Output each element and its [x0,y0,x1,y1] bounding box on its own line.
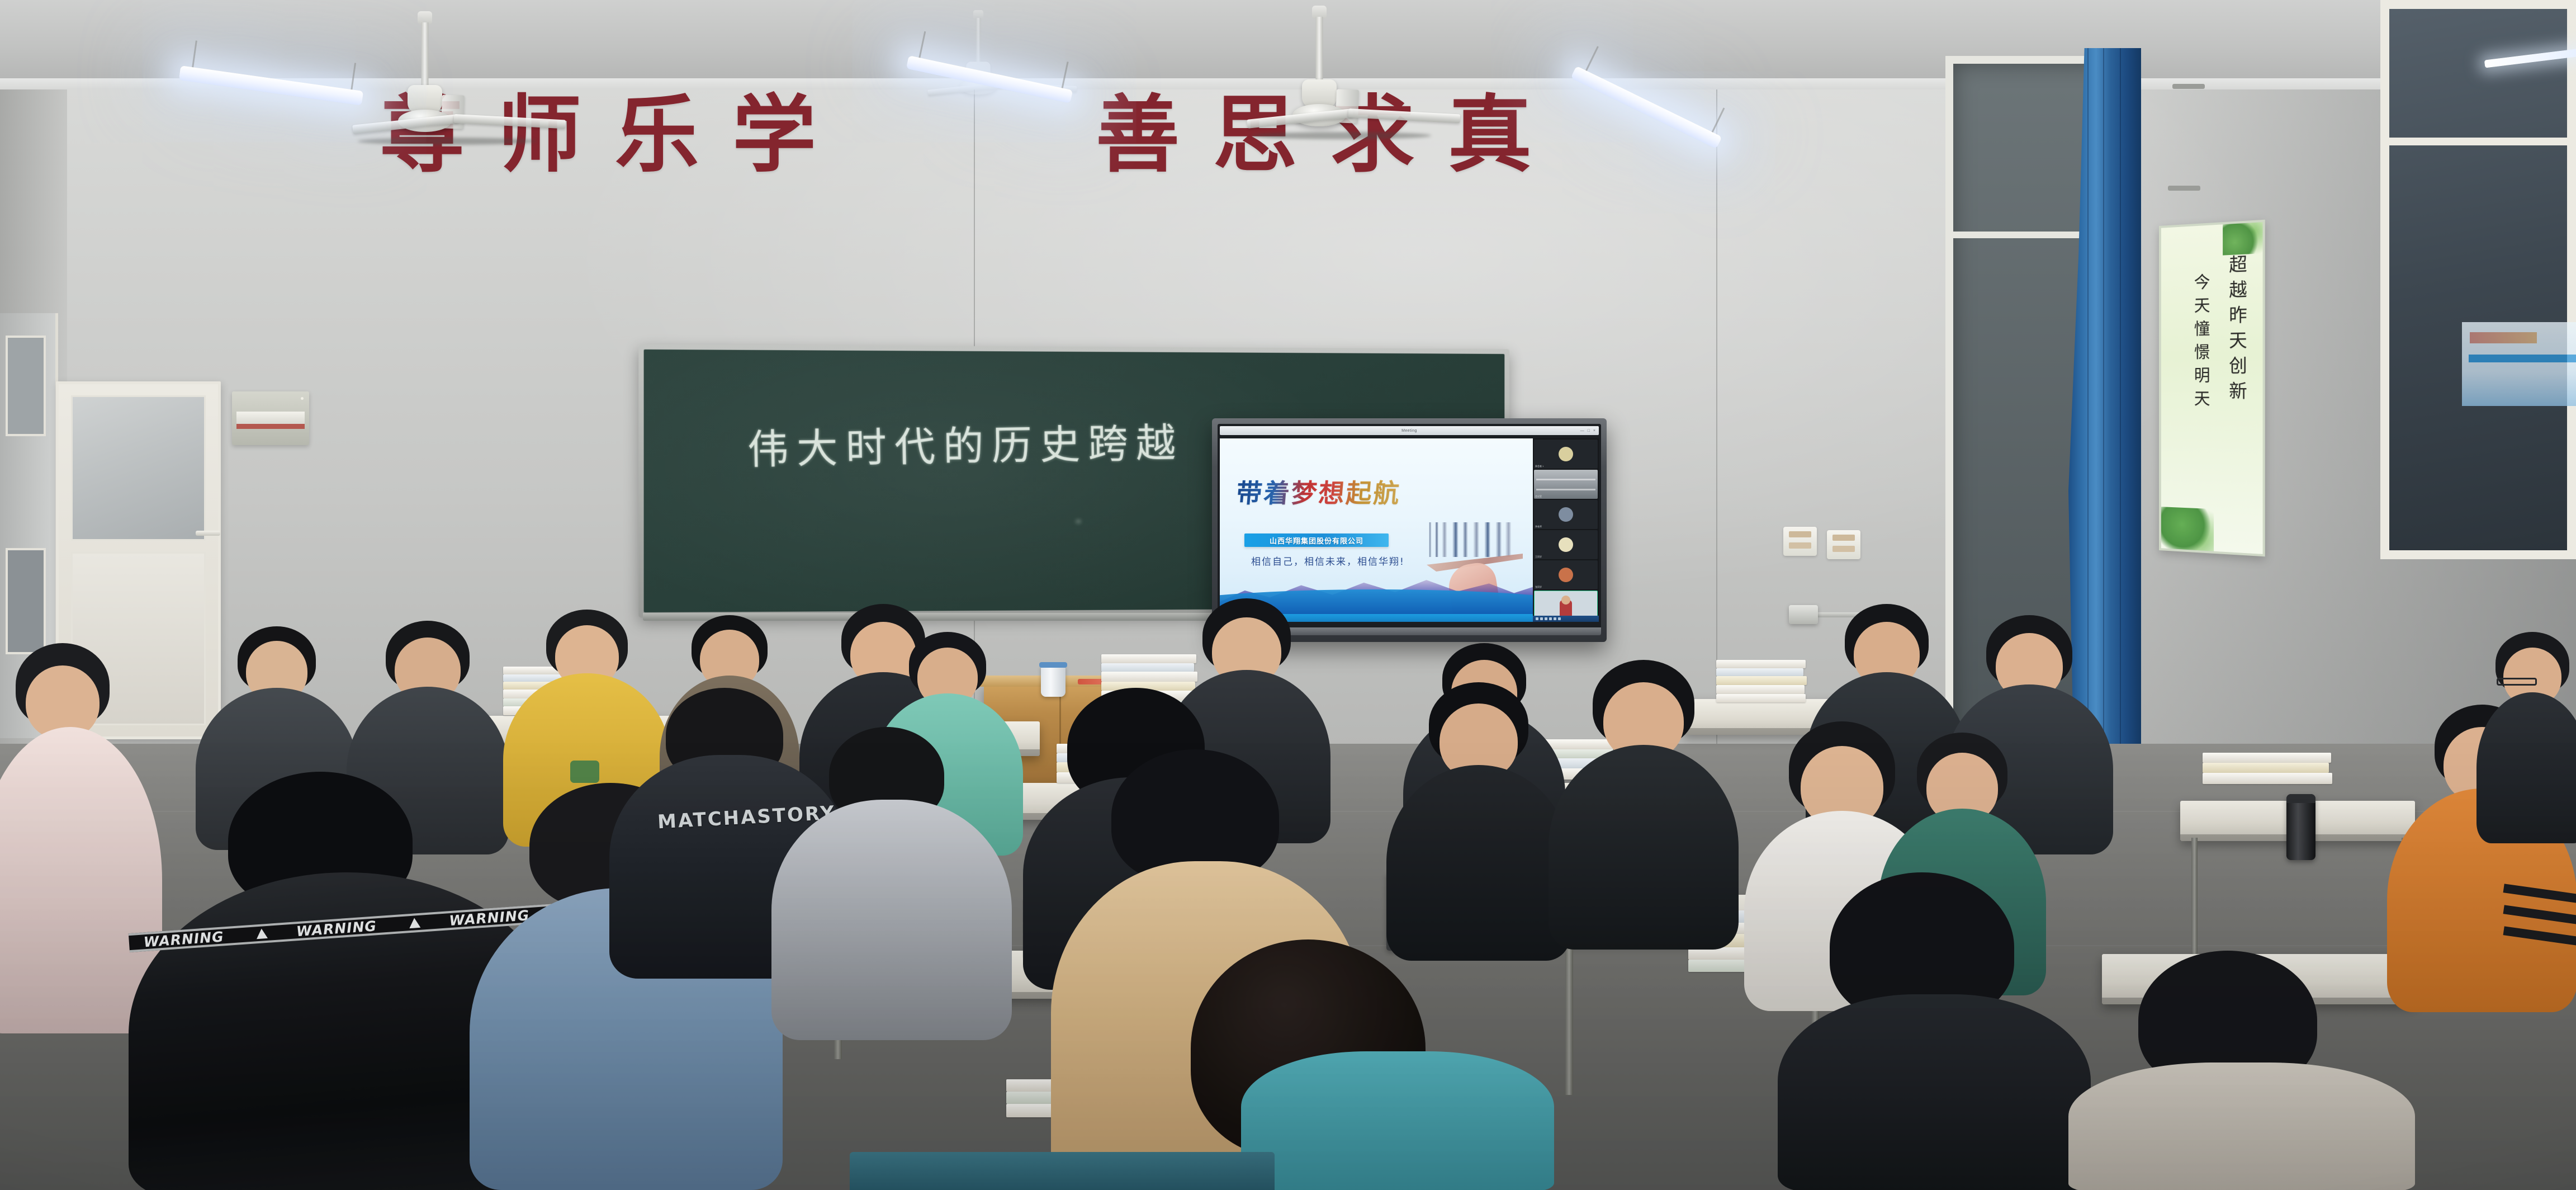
classroom-scene: 尊师乐学 善思求真 [0,0,2576,1190]
participant-name: 王同学 [1535,555,1542,559]
avatar [1559,568,1573,582]
wall-hook [2172,84,2205,89]
panel-breaker-row [236,412,305,424]
wall-hook [2168,186,2200,191]
switch-key-icon [1832,546,1855,552]
meeting-window-title: Meeting [1401,429,1417,433]
slide-tagline: 相信自己，相信未来，相信华翔! [1251,554,1405,568]
avatar [1559,447,1573,461]
glasses-icon [2497,678,2537,686]
window-controls[interactable]: — □ × [1580,429,1597,433]
door-glass [6,336,46,436]
avatar [1559,507,1573,522]
participant-tile[interactable]: 李老师 [1534,500,1598,529]
slide-title: 带着梦想起航 [1235,473,1403,510]
reflection-title [2470,332,2537,343]
fan-shadow [1252,132,1431,139]
leave-icon[interactable] [1558,617,1561,620]
warning-triangle-icon [256,928,268,939]
book [2203,753,2331,763]
video-call-toolbar[interactable] [1533,616,1599,622]
jacket-patch [570,761,599,783]
torso [2476,692,2576,843]
window-light-reflection [2484,47,2576,68]
torso-teal [1241,1051,1554,1190]
warning-triangle-icon [409,918,420,928]
presentation-slide[interactable]: 带着梦想起航 山西华翔集团股份有限公司 相信自己，相信未来，相信华翔! [1220,438,1533,622]
cup-lid [1039,662,1067,668]
room-shelf [1536,479,1595,480]
chat-icon[interactable] [1549,617,1552,620]
reflection-banner [2469,355,2576,362]
book [2203,773,2332,784]
thermos-bottle[interactable] [2286,794,2315,860]
panel-red-stripe [236,424,305,429]
fan-rod [1316,17,1323,83]
motivational-poster: 超越昨天创新 今天憧憬明天 [2159,220,2265,557]
panel-led-icon [301,397,304,400]
slide-company-text: 山西华翔集团股份有限公司 [1270,535,1363,546]
switch-key-icon [1832,535,1855,541]
chalk-dust [1076,520,1081,523]
skyline-illustration [1427,522,1514,557]
poster-column-right: 超越昨天创新 [2224,254,2250,407]
desk-leg [2191,838,2198,966]
student-mid-6-glasses [2476,632,2576,844]
leaf-decoration-icon [2161,507,2214,551]
participant-tile[interactable]: 会议室 [1534,470,1598,499]
avatar [1561,596,1570,605]
video-call-participant-rail[interactable]: 参会者 1 会议室 李老师 王同学 张同学 [1533,438,1599,622]
participants-icon[interactable] [1554,617,1556,620]
torso-grey-coat [771,800,1012,1040]
curtain-fold [2120,48,2121,786]
participant-tile[interactable]: 王同学 [1534,530,1598,559]
share-icon[interactable] [1545,617,1547,620]
room-shelf [1536,489,1595,490]
student-front-right-pale [2068,951,2415,1190]
light-switch-1[interactable] [1783,527,1817,556]
wall-seam-2 [1716,89,1717,749]
slide-company-banner: 山西华翔集团股份有限公司 [1244,533,1389,547]
student-mid-2 [1549,660,1739,951]
window-far-right [2380,0,2576,559]
poster-column-left: 今天憧憬明天 [2189,273,2213,413]
blackboard-chalk-heading: 伟大时代的历史跨越 [747,410,1184,476]
door-handle[interactable] [196,531,220,536]
meeting-window-titlebar[interactable]: Meeting — □ × [1220,426,1599,435]
switch-key-icon [1789,542,1811,549]
student-front-teal-desk-person [1241,984,1554,1190]
leaf-decoration-icon [2223,222,2262,255]
window-mullion [2389,138,2567,145]
fan-rod [976,18,981,64]
participant-tile[interactable]: 张同学 [1534,560,1598,589]
camera-icon[interactable] [1540,617,1543,620]
door-frosted-glass [71,395,206,541]
fan-rod [422,22,429,88]
switch-key-icon [1789,531,1811,537]
student-front-grey [771,727,1012,1040]
torso [1386,765,1571,961]
student-front-right-dark [1778,872,2091,1190]
torso [1778,994,2091,1190]
thermos-lid [2286,794,2315,803]
electrical-panel[interactable] [232,391,309,445]
participant-name: 会议室 [1535,495,1542,498]
avatar [1559,537,1573,552]
window-screen-reflection [2462,322,2576,406]
mic-icon[interactable] [1536,617,1538,620]
torso-pale-coat [2068,1062,2415,1190]
light-switch-2[interactable] [1827,530,1860,559]
participant-name: 参会者 1 [1535,465,1543,468]
door-glass [6,548,46,654]
student-mid-1 [1386,682,1571,962]
book [2203,763,2329,773]
fan-shadow [358,138,537,145]
participant-tile[interactable]: 参会者 1 [1534,440,1598,469]
front-desk-edge [850,1152,1275,1190]
participant-name: 张同学 [1535,585,1542,589]
participant-name: 李老师 [1535,525,1542,528]
desk-leg [1565,938,1573,1095]
torso [1549,745,1739,950]
